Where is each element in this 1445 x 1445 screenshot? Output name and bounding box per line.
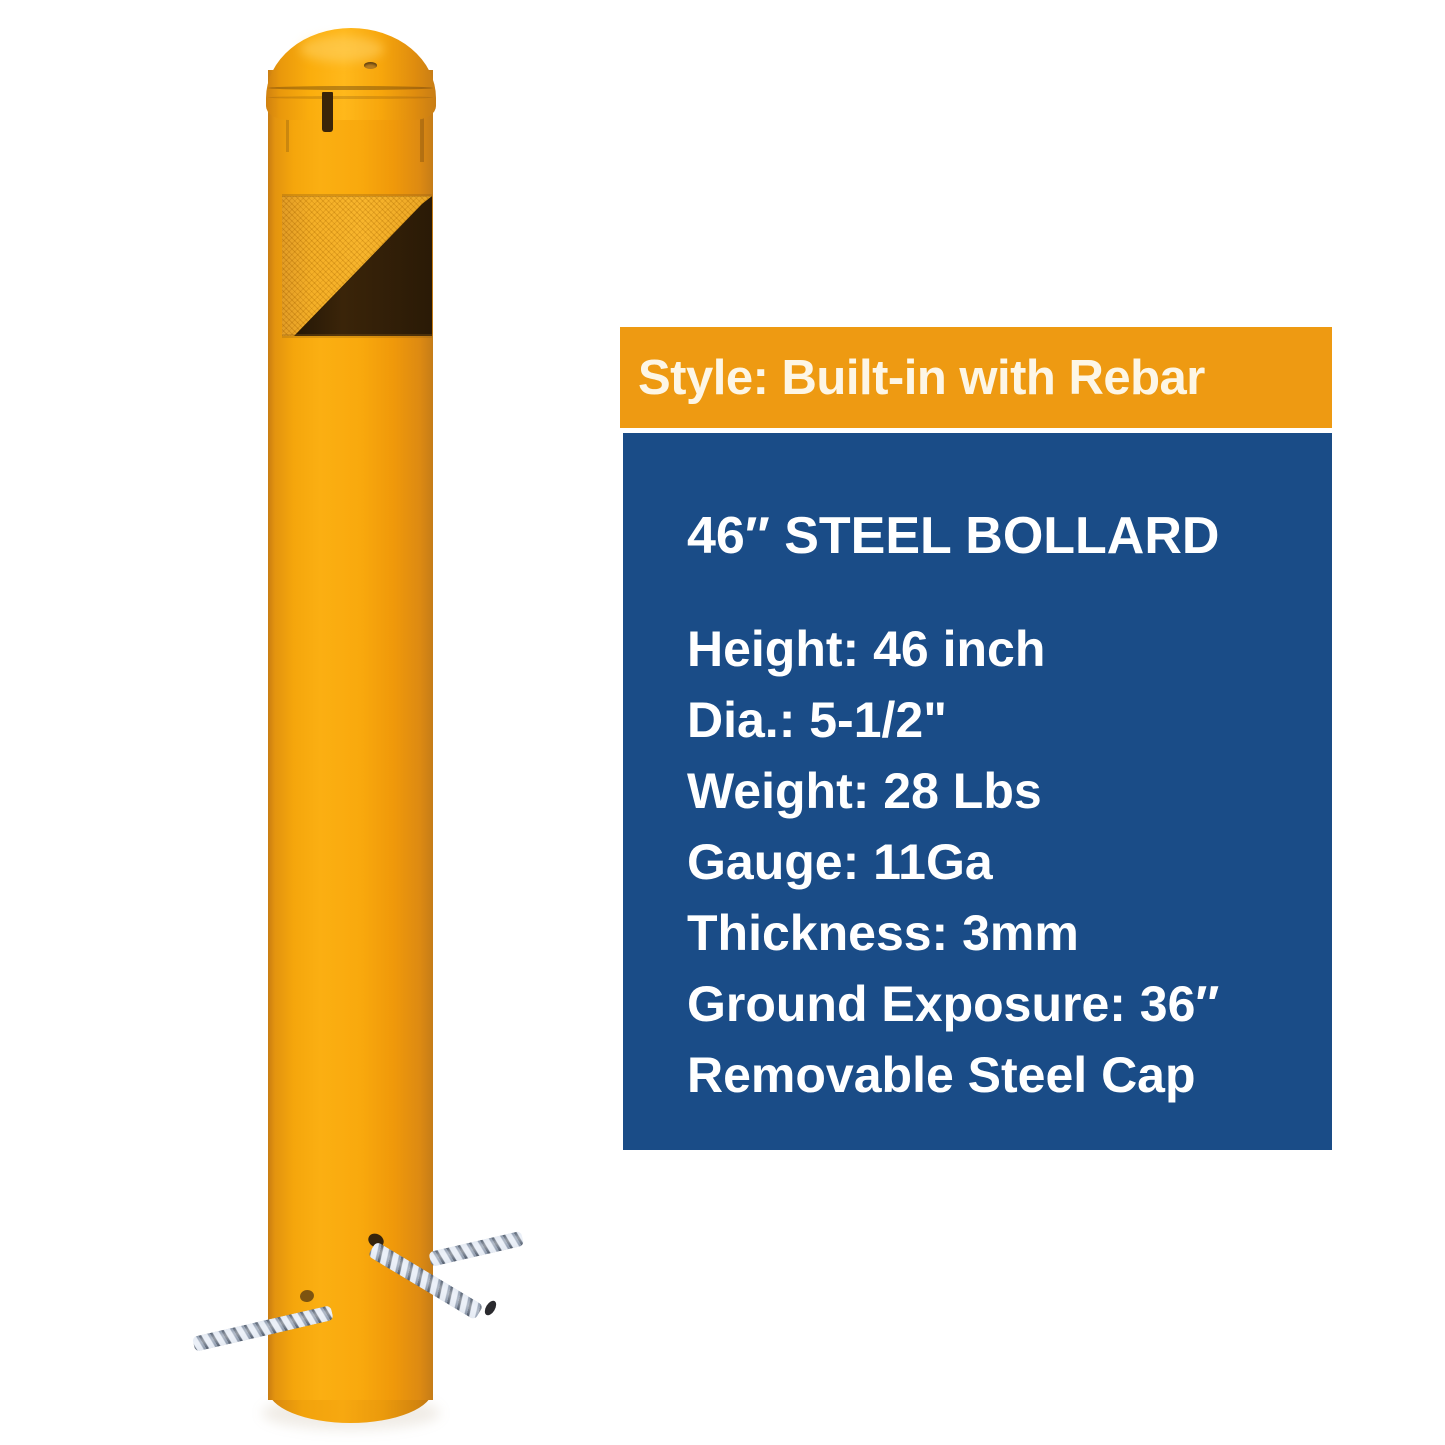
cap-lock-slot <box>322 92 333 132</box>
spec-card-body: 46″ STEEL BOLLARD Height: 46 inch Dia.: … <box>623 433 1332 1150</box>
spec-line-ground-exposure: Ground Exposure: 36″ <box>687 969 1317 1040</box>
spec-list: Height: 46 inch Dia.: 5-1/2" Weight: 28 … <box>687 614 1317 1111</box>
rebar-rod-right-outer <box>428 1231 524 1267</box>
spec-line-removable-cap: Removable Steel Cap <box>687 1040 1317 1111</box>
spec-line-height: Height: 46 inch <box>687 614 1317 685</box>
cap-seam-line-secondary <box>268 96 433 99</box>
spec-line-weight: Weight: 28 Lbs <box>687 756 1317 827</box>
spec-line-gauge: Gauge: 11Ga <box>687 827 1317 898</box>
cap-seam-line <box>268 86 433 90</box>
product-image-canvas: Style: Built-in with Rebar 46″ STEEL BOL… <box>0 0 1445 1445</box>
spec-card: Style: Built-in with Rebar 46″ STEEL BOL… <box>620 327 1332 428</box>
band-top-edge <box>282 194 432 197</box>
cap-vent-hole-icon <box>364 62 377 69</box>
black-diagonal-stripe <box>282 196 432 336</box>
spec-line-thickness: Thickness: 3mm <box>687 898 1317 969</box>
bollard-product-photo <box>0 0 600 1445</box>
spec-line-diameter: Dia.: 5-1/2" <box>687 685 1317 756</box>
product-title: 46″ STEEL BOLLARD <box>687 506 1219 566</box>
band-bottom-edge <box>282 334 432 338</box>
cap-specular-highlight <box>300 36 384 62</box>
reflective-tape-band <box>282 196 432 336</box>
spec-card-header: Style: Built-in with Rebar <box>620 327 1332 428</box>
style-label: Style: Built-in with Rebar <box>638 350 1205 406</box>
rebar-end-cap-right <box>483 1299 499 1317</box>
